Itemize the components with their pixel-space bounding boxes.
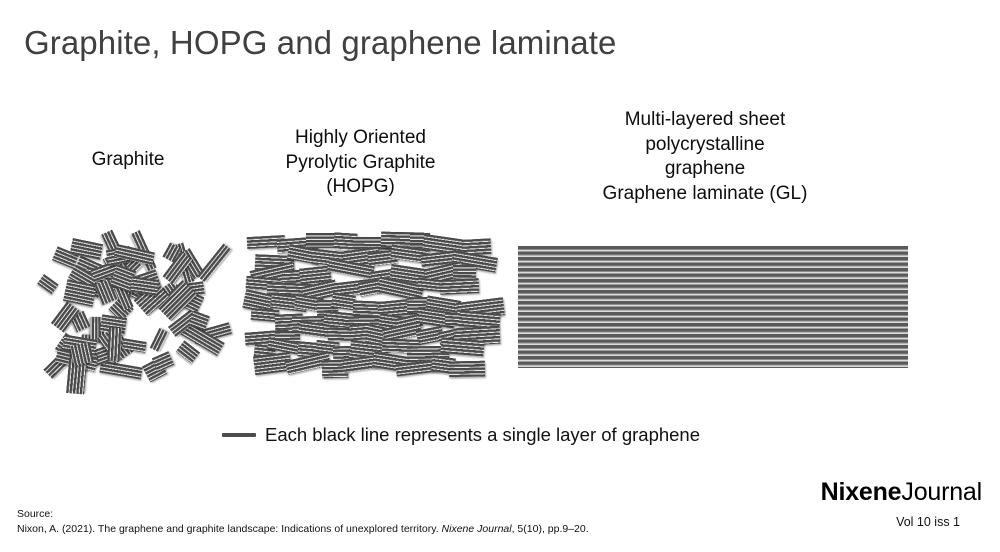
brand-name-light: Journal xyxy=(901,478,982,506)
caption-line: Pyrolytic Graphite xyxy=(258,151,463,176)
graphite-flake xyxy=(449,361,485,377)
column-caption-hopg: Highly Oriented Pyrolytic Graphite (HOPG… xyxy=(258,126,463,200)
page-title: Graphite, HOPG and graphene laminate xyxy=(24,21,616,65)
column-caption-graphene-laminate: Multi-layered sheet polycrystalline grap… xyxy=(545,108,865,206)
caption-line: polycrystalline xyxy=(545,133,865,158)
laminate-layers xyxy=(518,246,908,368)
illustration-graphite xyxy=(36,242,216,387)
column-caption-graphite: Graphite xyxy=(28,148,228,173)
brand-volume: Vol 10 iss 1 xyxy=(821,513,960,531)
graphite-flake xyxy=(152,351,175,372)
citation-part-2: , 5(10), pp.9–20. xyxy=(512,523,589,535)
legend-line-swatch xyxy=(222,433,256,437)
citation-journal: Nixene Journal xyxy=(442,523,512,535)
graphite-flake xyxy=(38,274,59,294)
graphite-flake xyxy=(107,327,121,360)
graphite-flake xyxy=(306,233,337,248)
source-text: Nixon, A. (2021). The graphene and graph… xyxy=(17,522,589,537)
graphite-flake xyxy=(333,232,357,250)
illustration-graphene-laminate xyxy=(518,246,908,368)
caption-line: Multi-layered sheet xyxy=(545,108,865,133)
citation-part-1: Nixon, A. (2021). The graphene and graph… xyxy=(17,523,442,535)
graphite-flake xyxy=(100,361,144,380)
brand-block: NixeneJournal Vol 10 iss 1 xyxy=(821,477,982,531)
graphite-flake xyxy=(440,278,479,295)
slide-canvas: Graphite, HOPG and graphene laminate Gra… xyxy=(0,0,1000,552)
caption-line: Graphite xyxy=(28,148,228,173)
legend-label: Each black line represents a single laye… xyxy=(265,423,700,447)
brand-logo: NixeneJournal xyxy=(821,477,982,507)
legend: Each black line represents a single laye… xyxy=(222,423,700,447)
caption-line: Highly Oriented xyxy=(258,126,463,151)
caption-line: graphene xyxy=(545,157,865,182)
caption-line: (HOPG) xyxy=(258,175,463,200)
source-citation: Source: Nixon, A. (2021). The graphene a… xyxy=(17,507,589,536)
caption-line: Graphene laminate (GL) xyxy=(545,182,865,207)
illustration-hopg xyxy=(258,242,458,375)
brand-name-bold: Nixene xyxy=(821,478,902,506)
graphite-flake xyxy=(150,328,169,352)
graphite-flake xyxy=(453,265,476,278)
graphite-flake xyxy=(198,244,232,283)
source-label: Source: xyxy=(17,507,589,522)
